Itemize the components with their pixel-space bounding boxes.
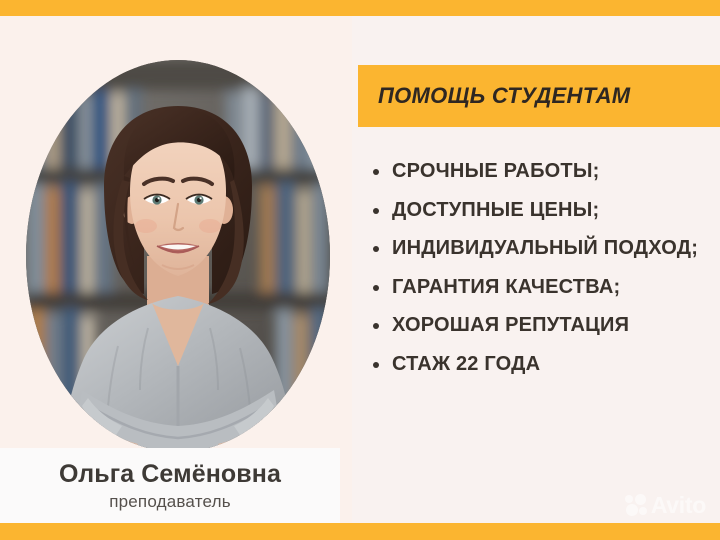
benefits-list: СРОЧНЫЕ РАБОТЫ; ДОСТУПНЫЕ ЦЕНЫ; ИНДИВИДУ… [370,160,710,377]
list-item: ДОСТУПНЫЕ ЦЕНЫ; [370,199,710,223]
benefit-text: ХОРОШАЯ РЕПУТАЦИЯ [392,314,629,336]
benefit-text: ДОСТУПНЫЕ ЦЕНЫ; [392,199,599,221]
bullet-dot-icon [373,362,379,368]
person-name-card: Ольга Семёновна преподаватель [0,448,340,524]
bullet-dot-icon [373,208,379,214]
benefit-text: СТАЖ 22 ГОДА [392,353,540,375]
top-accent-bar [0,0,720,16]
avito-watermark-text: Avito [651,494,706,517]
list-item: СТАЖ 22 ГОДА [370,353,710,377]
bullet-dot-icon [373,246,379,252]
avito-watermark: Avito [625,492,706,518]
person-role: преподаватель [109,493,231,511]
headline-banner: ПОМОЩЬ СТУДЕНТАМ [358,65,720,127]
poster-canvas: Ольга Семёновна преподаватель ПОМОЩЬ СТУ… [0,0,720,540]
list-item: СРОЧНЫЕ РАБОТЫ; [370,160,710,184]
benefit-text: СРОЧНЫЕ РАБОТЫ; [392,160,599,182]
bullet-dot-icon [373,169,379,175]
benefit-text: ИНДИВИДУАЛЬНЫЙ ПОДХОД; [392,237,698,259]
list-item: ГАРАНТИЯ КАЧЕСТВА; [370,276,710,300]
benefit-text: ГАРАНТИЯ КАЧЕСТВА; [392,276,620,298]
bullet-dot-icon [373,285,379,291]
portrait-photo [26,60,330,452]
list-item: ИНДИВИДУАЛЬНЫЙ ПОДХОД; [370,237,710,261]
avito-logo-icon [625,494,649,516]
bullet-dot-icon [373,323,379,329]
list-item: ХОРОШАЯ РЕПУТАЦИЯ [370,314,710,338]
person-name: Ольга Семёновна [59,461,281,487]
bottom-accent-bar [0,523,720,540]
headline-title: ПОМОЩЬ СТУДЕНТАМ [358,83,630,109]
